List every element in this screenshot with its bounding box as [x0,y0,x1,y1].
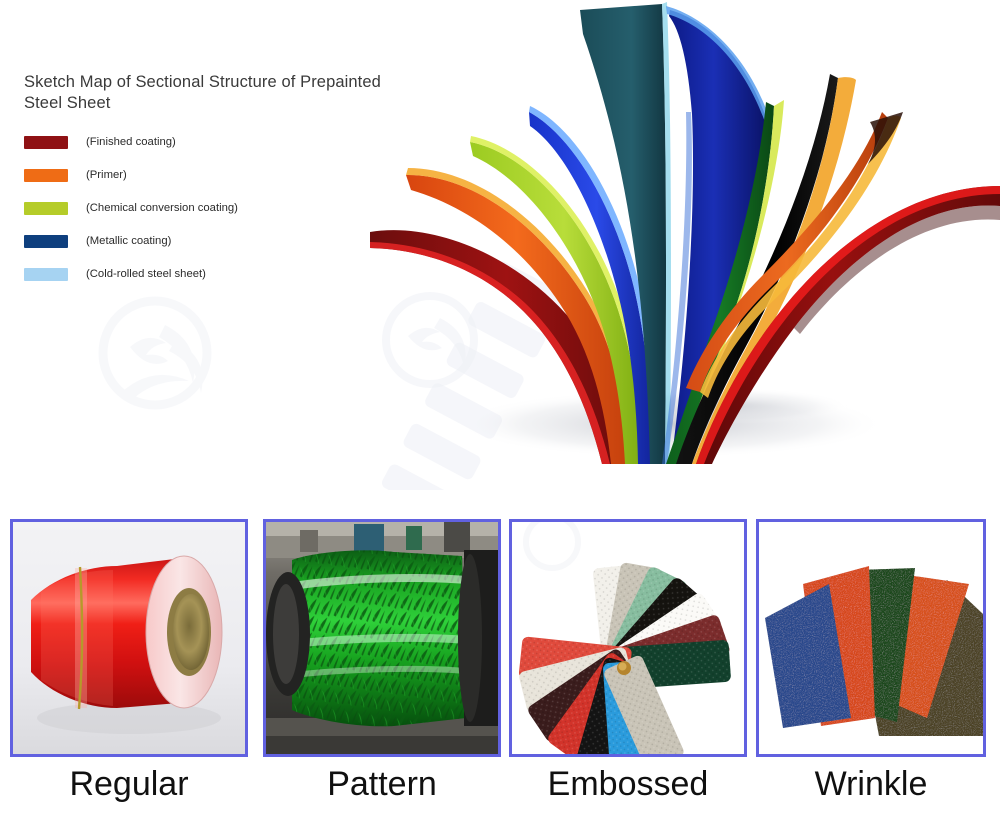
wrinkle-texture-sheets-image [759,522,983,754]
legend-label-chemical-conversion-coating: (Chemical conversion coating) [86,202,238,214]
thumbnail-frame-wrinkle[interactable] [756,519,986,757]
embossed-color-swatch-fan-image [512,522,744,754]
legend-label-metallic-coating: (Metallic coating) [86,235,171,247]
page-title: Sketch Map of Sectional Structure of Pre… [24,72,384,114]
legend-swatch-primer [24,169,68,182]
legend-swatch-finished-coating [24,136,68,149]
thumbnail-label-pattern: Pattern [263,759,501,809]
legend-label-primer: (Primer) [86,169,127,181]
legend-item-chemical-conversion-coating: (Chemical conversion coating) [24,200,384,216]
thumbnail-cell-embossed[interactable]: Embossed [509,519,747,809]
legend-label-cold-rolled-steel-sheet: (Cold-rolled steel sheet) [86,268,206,280]
prepainted-steel-sheet-fan-illustration [370,0,1000,504]
legend-item-cold-rolled-steel-sheet: (Cold-rolled steel sheet) [24,266,384,282]
company-logo-watermark [95,295,275,415]
legend-item-metallic-coating: (Metallic coating) [24,233,384,249]
legend-list: (Finished coating) (Primer) (Chemical co… [24,134,384,282]
legend-swatch-chemical-conversion-coating [24,202,68,215]
legend-swatch-metallic-coating [24,235,68,248]
thumbnail-label-regular: Regular [10,759,248,809]
legend-block: Sketch Map of Sectional Structure of Pre… [24,72,384,299]
diagram-section: Sketch Map of Sectional Structure of Pre… [0,0,1000,505]
legend-swatch-cold-rolled-steel-sheet [24,268,68,281]
thumbnail-frame-pattern[interactable] [263,519,501,757]
thumbnail-cell-regular[interactable]: Regular [10,519,248,809]
thumbnail-frame-embossed[interactable] [509,519,747,757]
thumbnail-frame-regular[interactable] [10,519,248,757]
thumbnail-label-wrinkle: Wrinkle [756,759,986,809]
legend-item-finished-coating: (Finished coating) [24,134,384,150]
product-type-thumbnail-strip: Regular [0,505,1000,831]
legend-item-primer: (Primer) [24,167,384,183]
red-prepainted-steel-coil-image [13,522,245,754]
thumbnail-label-embossed: Embossed [509,759,747,809]
legend-label-finished-coating: (Finished coating) [86,136,176,148]
green-grass-pattern-coil-image [266,522,498,754]
thumbnail-cell-wrinkle[interactable]: Wrinkle [756,519,986,809]
thumbnail-cell-pattern[interactable]: Pattern [263,519,501,809]
